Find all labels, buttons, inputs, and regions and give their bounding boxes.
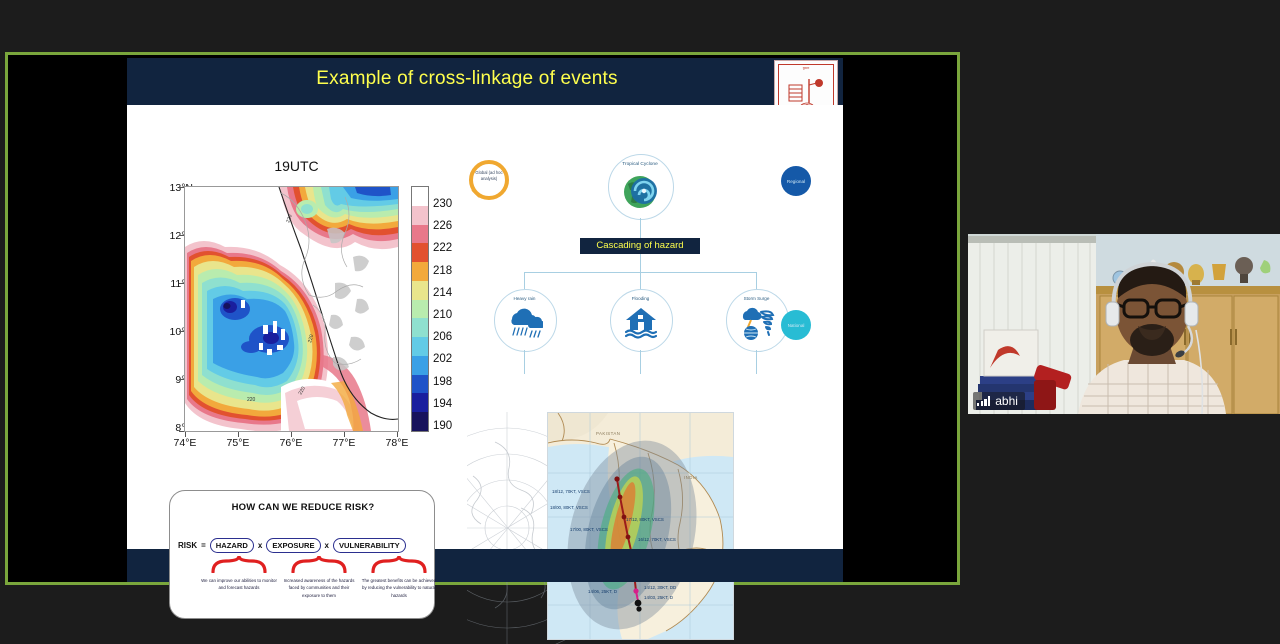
colorbar-tick-226: 226 bbox=[433, 220, 452, 232]
colorbar-swatch bbox=[412, 300, 428, 319]
risk-panel-title: HOW CAN WE REDUCE RISK? bbox=[170, 502, 436, 513]
colorbar-tick-190: 190 bbox=[433, 420, 452, 432]
cyclone-globe-icon bbox=[622, 174, 658, 210]
slide-header: Example of cross-linkage of events कुसाट bbox=[127, 58, 843, 105]
x-tick-label-76E: 76°E bbox=[271, 437, 311, 449]
node-label-flooding: Flooding bbox=[610, 296, 671, 301]
track-point-9: 14/12, 30KT, DD bbox=[644, 585, 676, 590]
flooding-house-icon bbox=[625, 306, 657, 340]
participant-name-badge: abhi bbox=[973, 392, 1025, 410]
colorbar-tick-206: 206 bbox=[433, 331, 452, 343]
magnifier-label: Global (ad hoc analysis) bbox=[469, 170, 509, 183]
risk-term-vulnerability: VULNERABILITY bbox=[333, 538, 406, 553]
cyclone-track-map: PAKISTAN INDIA 18/12, 70KT, VSCS 18/00, … bbox=[547, 412, 734, 640]
colorbar-tick-214: 214 bbox=[433, 287, 452, 299]
risk-term-risk: RISK bbox=[178, 541, 197, 550]
slide-body: 19UTC 13°N 12°N 11°N 10°N 9°N 8°N bbox=[127, 105, 843, 582]
scale-tag-regional-label: Regional bbox=[787, 179, 805, 184]
colorbar-tick-218: 218 bbox=[433, 265, 452, 277]
track-point-2: 18/00, 80KT, VSCS bbox=[550, 505, 588, 510]
node-label-heavy-rain: Heavy rain bbox=[494, 296, 555, 301]
colorbar-swatch bbox=[412, 262, 428, 281]
brace-icon-exposure bbox=[290, 555, 348, 573]
page-title: Example of cross-linkage of events bbox=[187, 68, 747, 90]
risk-equation: RISK = HAZARD x EXPOSURE x VULNERABILITY bbox=[178, 538, 428, 553]
track-point-4: 17/12, 80KT, VSCS bbox=[626, 517, 664, 522]
risk-caption-exposure: Increased awareness of the hazards faced… bbox=[281, 577, 357, 599]
x-tick-label-75E: 75°E bbox=[218, 437, 258, 449]
storm-surge-icon bbox=[739, 306, 775, 340]
map-time-label: 19UTC bbox=[128, 158, 465, 174]
colorbar-tick-194: 194 bbox=[433, 398, 452, 410]
colorbar-tick-198: 198 bbox=[433, 376, 452, 388]
colorbar-tick-210: 210 bbox=[433, 309, 452, 321]
colorbar-tick-202: 202 bbox=[433, 353, 452, 365]
track-point-1: 18/12, 70KT, VSCS bbox=[552, 489, 590, 494]
x-tick-label-78E: 78°E bbox=[377, 437, 417, 449]
track-country-pakistan: PAKISTAN bbox=[596, 431, 620, 436]
colorbar-tick-230: 230 bbox=[433, 198, 452, 210]
node-label-storm-surge: Storm Surge bbox=[726, 296, 787, 301]
track-point-10: 14/06, 25KT, D bbox=[588, 589, 617, 594]
map-plot-area: 220 220 220 220 bbox=[184, 186, 399, 432]
colorbar-tick-222: 222 bbox=[433, 242, 452, 254]
shared-screen-frame[interactable]: Example of cross-linkage of events कुसाट bbox=[5, 52, 960, 585]
colorbar-swatch bbox=[412, 243, 428, 262]
colorbar-swatch bbox=[412, 393, 428, 412]
colorbar-swatch bbox=[412, 412, 428, 431]
risk-equals-sign: = bbox=[201, 541, 206, 550]
brightness-temperature-map: 19UTC 13°N 12°N 11°N 10°N 9°N 8°N bbox=[128, 154, 465, 487]
participant-video-feed bbox=[968, 234, 1280, 414]
cascading-banner: Cascading of hazard bbox=[580, 238, 700, 254]
risk-caption-hazard: We can improve our abilities to monitor … bbox=[201, 577, 277, 592]
brace-icon-vulnerability bbox=[370, 555, 428, 573]
scale-tag-national: National bbox=[781, 310, 811, 340]
presentation-slide: Example of cross-linkage of events कुसाट bbox=[127, 58, 843, 582]
colorbar bbox=[411, 186, 429, 432]
risk-operator-2: x bbox=[325, 541, 329, 550]
node-label-tropical-cyclone: Tropical Cyclone bbox=[608, 162, 672, 167]
brace-icon-hazard bbox=[210, 555, 268, 573]
colorbar-swatch bbox=[412, 225, 428, 244]
svg-text:220: 220 bbox=[247, 397, 256, 403]
risk-operator-1: x bbox=[258, 541, 262, 550]
colorbar-swatch bbox=[412, 356, 428, 375]
participant-name: abhi bbox=[995, 394, 1018, 408]
risk-caption-vulnerability: The greatest benefits can be achieved by… bbox=[361, 577, 437, 599]
colorbar-swatch bbox=[412, 318, 428, 337]
colorbar-swatch bbox=[412, 187, 428, 206]
risk-term-hazard: HAZARD bbox=[210, 538, 254, 553]
colorbar-swatch bbox=[412, 337, 428, 356]
participant-video-tile[interactable]: abhi bbox=[968, 234, 1280, 414]
colorbar-swatch bbox=[412, 206, 428, 225]
scale-tag-regional: Regional bbox=[781, 166, 811, 196]
track-point-3: 17/00, 80KT, VSCS bbox=[570, 527, 608, 532]
emblem-top-text: कुसाट bbox=[775, 66, 837, 70]
meeting-screen: Example of cross-linkage of events कुसाट bbox=[0, 0, 1280, 644]
risk-term-exposure: EXPOSURE bbox=[266, 538, 320, 553]
track-country-india: INDIA bbox=[684, 475, 698, 480]
heavy-rain-icon bbox=[507, 306, 543, 340]
cascading-hazard-diagram: Global (ad hoc analysis) Tropical Cyclon… bbox=[467, 154, 843, 582]
track-point-6: 16/12, 70KT, VSCS bbox=[638, 537, 676, 542]
x-tick-label-77E: 77°E bbox=[324, 437, 364, 449]
reduce-risk-panel: HOW CAN WE REDUCE RISK? RISK = HAZARD x … bbox=[169, 490, 435, 619]
colorbar-swatch bbox=[412, 281, 428, 300]
colorbar-swatch bbox=[412, 375, 428, 394]
signal-bars-icon bbox=[977, 396, 990, 406]
x-tick-label-74E: 74°E bbox=[165, 437, 205, 449]
track-point-11: 14/03, 25KT, D bbox=[644, 595, 673, 600]
scale-tag-national-label: National bbox=[788, 323, 805, 328]
